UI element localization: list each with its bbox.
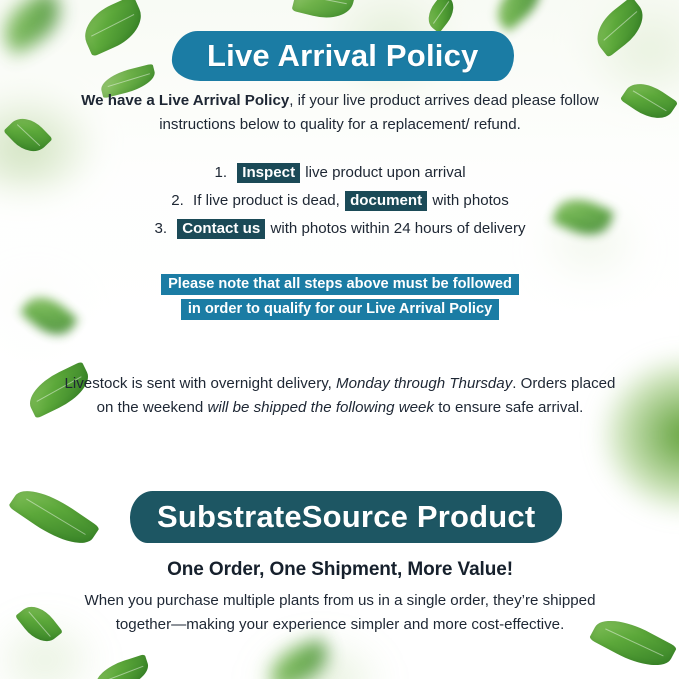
leaf-icon xyxy=(3,110,52,160)
leaf-icon xyxy=(489,0,550,32)
policy-steps-list: 1. Inspect live product upon arrival 2. … xyxy=(60,164,620,248)
leaf-icon xyxy=(264,638,334,679)
list-item: 2. If live product is dead, document wit… xyxy=(60,192,620,209)
shipping-schedule-paragraph: Livestock is sent with overnight deliver… xyxy=(60,372,620,421)
shipping-line1-b: . xyxy=(512,375,516,392)
step-text: with photos within 24 hours of delivery xyxy=(270,220,525,237)
step-highlight: Contact us xyxy=(177,219,265,239)
substratesource-product-banner: SubstrateSource Product xyxy=(129,491,562,543)
intro-paragraph: We have a Live Arrival Policy, if your l… xyxy=(60,89,620,138)
list-item: 3. Contact us with photos within 24 hour… xyxy=(60,220,620,237)
step-number: 3. xyxy=(154,220,167,237)
shipping-line2-italic: will be shipped the following week xyxy=(207,399,434,416)
leaf-icon xyxy=(0,0,70,55)
live-arrival-policy-banner: Live Arrival Policy xyxy=(171,31,514,81)
step-highlight: Inspect xyxy=(237,163,300,183)
banner-title: Live Arrival Policy xyxy=(207,38,478,74)
note-line-2: in order to qualify for our Live Arrival… xyxy=(181,299,499,320)
leaf-icon xyxy=(422,0,460,33)
leaf-icon xyxy=(620,75,678,128)
value-subheading: One Order, One Shipment, More Value! xyxy=(60,555,620,586)
leaf-icon xyxy=(587,0,652,58)
outro-paragraph: When you purchase multiple plants from u… xyxy=(60,589,620,638)
shipping-line3: to ensure safe arrival. xyxy=(438,399,583,416)
shipping-line1-italic: Monday through Thursday xyxy=(336,375,512,392)
shipping-line1-a: Livestock is sent with overnight deliver… xyxy=(65,375,337,392)
step-number: 2. xyxy=(171,192,184,209)
leaf-icon xyxy=(15,599,63,649)
step-text: live product upon arrival xyxy=(305,164,465,181)
leaf-icon xyxy=(91,654,152,679)
outro-line-1: When you purchase multiple plants from u… xyxy=(85,592,596,609)
step-text-pre: If live product is dead, xyxy=(193,192,340,209)
leaf-icon xyxy=(77,0,150,57)
step-highlight: document xyxy=(345,191,427,211)
step-text: with photos xyxy=(432,192,508,209)
promo-infographic: Live Arrival Policy We have a Live Arriv… xyxy=(0,0,679,679)
leaf-icon xyxy=(8,478,100,555)
blurred-foliage-blob xyxy=(572,330,679,540)
leaf-icon xyxy=(292,0,357,24)
list-item: 1. Inspect live product upon arrival xyxy=(60,164,620,181)
note-line-1: Please note that all steps above must be… xyxy=(161,274,519,295)
banner-title: SubstrateSource Product xyxy=(157,499,535,535)
intro-bold-lead: We have a Live Arrival Policy xyxy=(81,92,289,109)
outro-line-2: together—making your experience simpler … xyxy=(116,616,565,633)
policy-note-callout: Please note that all steps above must be… xyxy=(60,274,620,324)
step-number: 1. xyxy=(214,164,227,181)
